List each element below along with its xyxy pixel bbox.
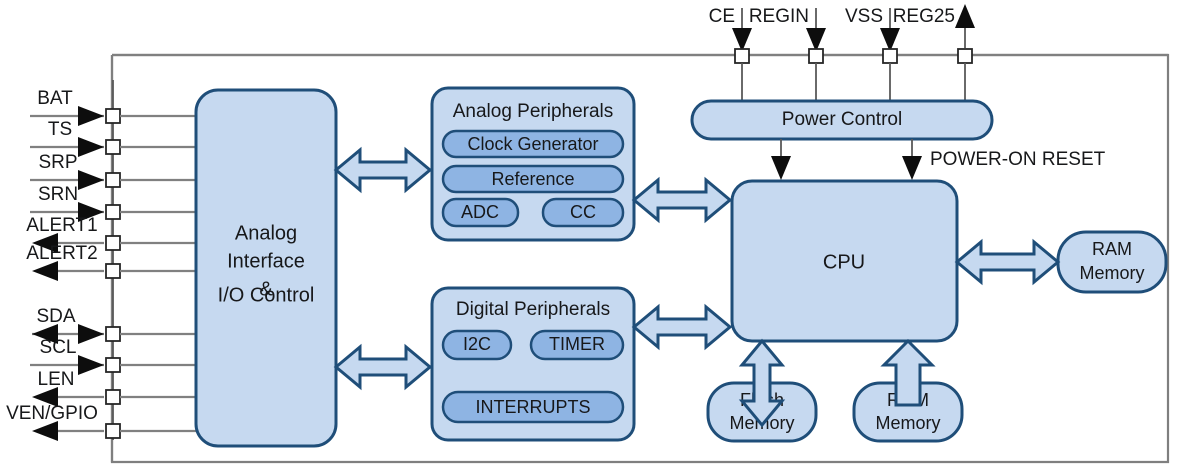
pin-pad[interactable] — [883, 49, 897, 63]
pin-pad[interactable] — [106, 236, 120, 250]
analog-interface-line2: Interface — [227, 250, 305, 272]
pin-pad[interactable] — [809, 49, 823, 63]
clock-generator-label: Clock Generator — [467, 134, 598, 154]
power-control-to-cpu-wires: POWER-ON RESET — [771, 139, 1106, 180]
block-cpu[interactable]: CPU — [732, 181, 957, 341]
interrupts-label: INTERRUPTS — [475, 397, 590, 417]
subblock-clock-generator[interactable]: Clock Generator — [443, 131, 623, 157]
pin-pad[interactable] — [106, 424, 120, 438]
pin-label-alert2: ALERT2 — [26, 243, 97, 264]
diagram-canvas: BAT TS SRP SRN — [0, 0, 1200, 474]
pin-reg25[interactable]: REG25 — [893, 4, 975, 103]
pin-label-ts: TS — [48, 119, 72, 140]
pin-label-reg25: REG25 — [893, 6, 955, 27]
pin-label-scl: SCL — [40, 337, 77, 358]
pin-label-len: LEN — [38, 369, 75, 390]
bus-digital-peripherals-to-cpu — [634, 307, 730, 347]
pin-label-sda: SDA — [36, 306, 75, 327]
pin-label-regin: REGIN — [749, 6, 809, 27]
cc-label: CC — [570, 202, 596, 222]
rom-memory-line2: Memory — [875, 413, 940, 433]
timer-label: TIMER — [549, 334, 605, 354]
pin-pad[interactable] — [958, 49, 972, 63]
digital-peripherals-title: Digital Peripherals — [456, 299, 610, 320]
block-analog-peripherals[interactable]: Analog Peripherals Clock Generator Refer… — [432, 88, 634, 240]
pin-pad[interactable] — [106, 327, 120, 341]
pin-pad[interactable] — [106, 140, 120, 154]
block-power-control[interactable]: Power Control — [692, 101, 992, 139]
arrow-down-icon — [771, 156, 791, 180]
analog-interface-line1: Analog — [235, 222, 297, 244]
pin-label-srp: SRP — [38, 152, 77, 173]
pin-pad[interactable] — [106, 264, 120, 278]
arrow-out-icon — [955, 4, 975, 28]
subblock-timer[interactable]: TIMER — [531, 331, 623, 359]
subblock-reference[interactable]: Reference — [443, 166, 623, 192]
block-diagram: BAT TS SRP SRN — [0, 0, 1200, 474]
pin-pad[interactable] — [106, 358, 120, 372]
arrow-out-icon — [32, 261, 58, 281]
pin-pad[interactable] — [106, 109, 120, 123]
arrow-in-icon — [78, 324, 104, 344]
adc-label: ADC — [461, 202, 499, 222]
block-ram-memory[interactable]: RAM Memory — [1058, 232, 1166, 292]
block-analog-interface[interactable]: Analog Interface & I/O Control — [196, 90, 336, 446]
power-control-label: Power Control — [782, 109, 902, 130]
subblock-cc[interactable]: CC — [543, 199, 623, 226]
block-digital-peripherals[interactable]: Digital Peripherals I2C TIMER INTERRUPTS — [432, 288, 634, 440]
bus-analog-interface-to-analog-peripherals — [336, 150, 430, 190]
pin-pad[interactable] — [106, 205, 120, 219]
bus-analog-peripherals-to-cpu — [634, 180, 730, 220]
subblock-i2c[interactable]: I2C — [443, 331, 511, 359]
pin-label-bat: BAT — [37, 88, 73, 109]
arrow-in-icon — [78, 106, 104, 126]
pin-label-ven-gpio: VEN/GPIO — [6, 403, 98, 424]
ram-memory-line1: RAM — [1092, 239, 1132, 259]
pin-label-alert1: ALERT1 — [26, 215, 97, 236]
arrow-out-icon — [32, 421, 58, 441]
reference-label: Reference — [491, 169, 574, 189]
pin-label-srn: SRN — [38, 184, 78, 205]
pin-label-vss: VSS — [845, 6, 883, 27]
analog-peripherals-title: Analog Peripherals — [453, 101, 614, 122]
analog-interface-line4: I/O Control — [218, 284, 315, 306]
pin-pad[interactable] — [106, 390, 120, 404]
pin-ven-gpio[interactable]: VEN/GPIO — [6, 403, 196, 441]
arrow-in-icon — [78, 170, 104, 190]
ram-memory-line2: Memory — [1079, 263, 1144, 283]
pin-pad[interactable] — [106, 173, 120, 187]
arrow-down-icon — [902, 156, 922, 180]
pin-len[interactable]: LEN — [32, 369, 196, 407]
subblock-adc[interactable]: ADC — [443, 199, 518, 226]
pin-pad[interactable] — [735, 49, 749, 63]
cpu-label: CPU — [823, 251, 865, 273]
arrow-in-icon — [78, 137, 104, 157]
subblock-interrupts[interactable]: INTERRUPTS — [443, 392, 623, 422]
bus-cpu-to-ram — [957, 242, 1058, 282]
power-on-reset-label: POWER-ON RESET — [930, 149, 1106, 170]
arrow-in-icon — [78, 355, 104, 375]
bus-analog-interface-to-digital-peripherals — [336, 347, 430, 387]
pin-label-ce: CE — [709, 6, 735, 27]
i2c-label: I2C — [463, 334, 491, 354]
